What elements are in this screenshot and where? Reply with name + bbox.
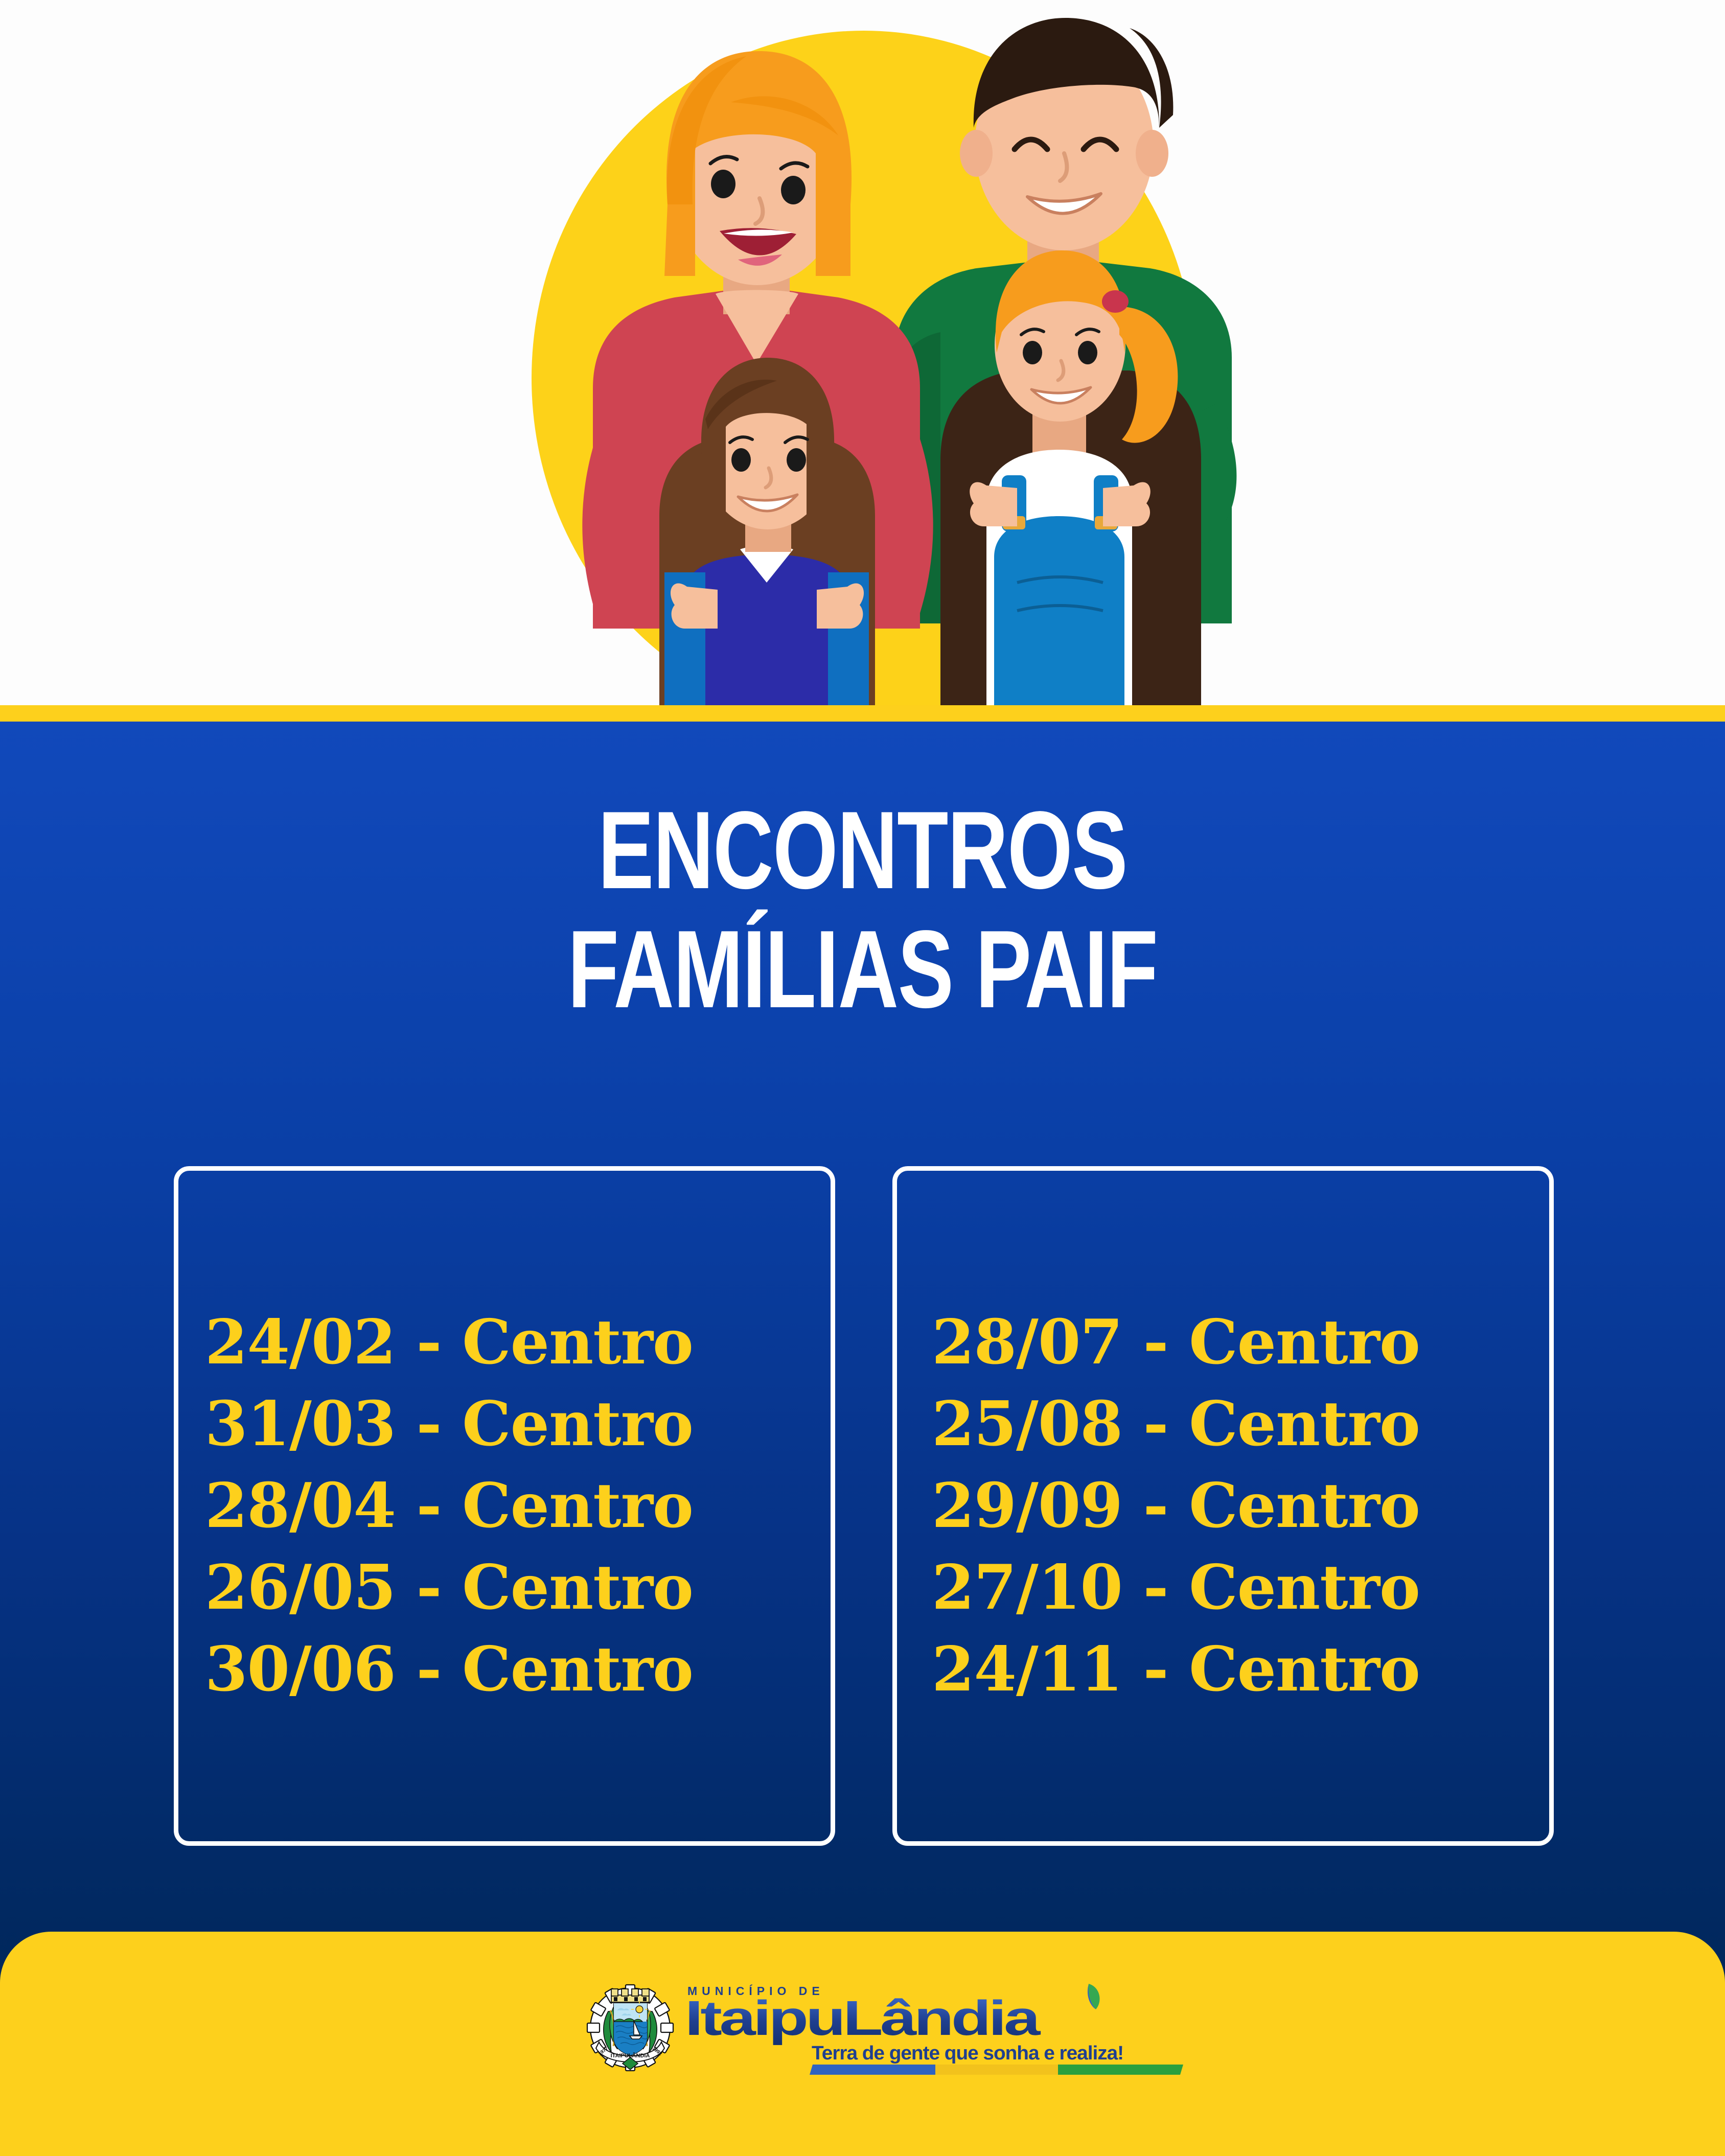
schedule-item: 28/04 - Centro <box>205 1475 831 1537</box>
schedule-box-right: 28/07 - Centro 25/08 - Centro 29/09 - Ce… <box>892 1166 1554 1846</box>
page-title-line2: FAMÍLIAS PAIF <box>207 910 1518 1029</box>
logo-stripe <box>810 2065 1183 2075</box>
yellow-footer: ITAIPULÂNDIA 1977 1992 MUNICÍPIO DE Itai… <box>0 1932 1725 2156</box>
schedule-item: 24/11 - Centro <box>924 1639 1549 1700</box>
coat-of-arms-icon: ITAIPULÂNDIA 1977 1992 <box>587 1985 673 2071</box>
schedule-item: 25/08 - Centro <box>924 1394 1549 1455</box>
family-illustration <box>0 0 1725 705</box>
schedule-item: 24/02 - Centro <box>205 1312 831 1373</box>
schedule-item: 31/03 - Centro <box>205 1394 831 1455</box>
schedule-item: 28/07 - Centro <box>924 1312 1549 1373</box>
schedule-item: 29/09 - Centro <box>924 1475 1549 1537</box>
page-title-line1: ENCONTROS <box>207 791 1518 910</box>
logo-tagline-text: Terra de gente que sonha e realiza! <box>812 2043 1123 2064</box>
yellow-divider-bar <box>0 705 1725 722</box>
hero-illustration-area <box>0 0 1725 705</box>
schedule-item: 30/06 - Centro <box>205 1639 831 1700</box>
page-title: ENCONTROS FAMÍLIAS PAIF <box>207 791 1518 1029</box>
itaipulandia-logo: ITAIPULÂNDIA 1977 1992 MUNICÍPIO DE Itai… <box>583 1979 1196 2081</box>
schedule-boxes: 24/02 - Centro 31/03 - Centro 28/04 - Ce… <box>174 1166 1554 1846</box>
schedule-item: 26/05 - Centro <box>205 1557 831 1618</box>
schedule-item: 27/10 - Centro <box>924 1557 1549 1618</box>
logo-name-text: ItaipuLândia <box>685 1991 1041 2046</box>
municipality-logo: ITAIPULÂNDIA 1977 1992 MUNICÍPIO DE Itai… <box>583 1979 1196 2081</box>
schedule-box-left: 24/02 - Centro 31/03 - Centro 28/04 - Ce… <box>174 1166 835 1846</box>
